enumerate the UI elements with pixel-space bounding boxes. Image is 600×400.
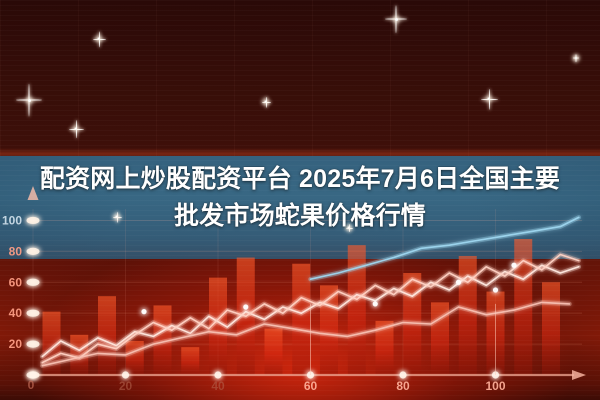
y-axis-tick-dot [27,279,40,286]
y-axis-tick-dot [27,340,40,347]
chart-bar [126,341,144,375]
chart-data-point [511,263,516,268]
chart-bar [542,282,560,375]
x-axis-tick-label: 100 [485,379,505,393]
x-axis-arrow-icon [572,370,586,380]
y-axis-tick-label: 40 [9,306,23,320]
chart-data-point [141,309,146,314]
y-axis-tick-label: 80 [9,244,23,258]
chart-bar [292,264,310,375]
y-axis-tick-label: 60 [9,275,23,289]
chart-bar [265,329,283,375]
chart-data-point [493,287,498,292]
page-title: 配资网上炒股配资平台 2025年7月6日全国主要 批发市场蛇果价格行情 [0,160,600,235]
x-axis-tick-dot [399,371,406,378]
y-axis-tick-dot [27,248,40,255]
title-line-1: 配资网上炒股配资平台 2025年7月6日全国主要 [0,160,600,198]
title-line-2: 批发市场蛇果价格行情 [0,197,600,235]
chart-bar [98,296,116,375]
chart-data-point [456,280,461,285]
x-axis-tick-label: 80 [396,379,410,393]
x-axis-tick-dot [122,371,129,378]
y-axis-tick-label: 20 [9,337,23,351]
x-axis-tick-label: 0 [28,378,35,392]
chart-bar [181,347,199,375]
x-axis-tick-label: 40 [211,379,225,393]
y-axis-tick-dot [27,310,40,317]
x-axis-tick-label: 20 [119,379,133,393]
chart-bar [459,256,477,375]
x-axis-tick-dot [214,371,221,378]
image-canvas: 20406080100020406080100 配资网上炒股配资平台 2025年… [0,0,600,400]
x-axis-tick-label: 60 [304,379,318,393]
chart-data-point [373,301,378,306]
chart-data-point [243,304,248,309]
